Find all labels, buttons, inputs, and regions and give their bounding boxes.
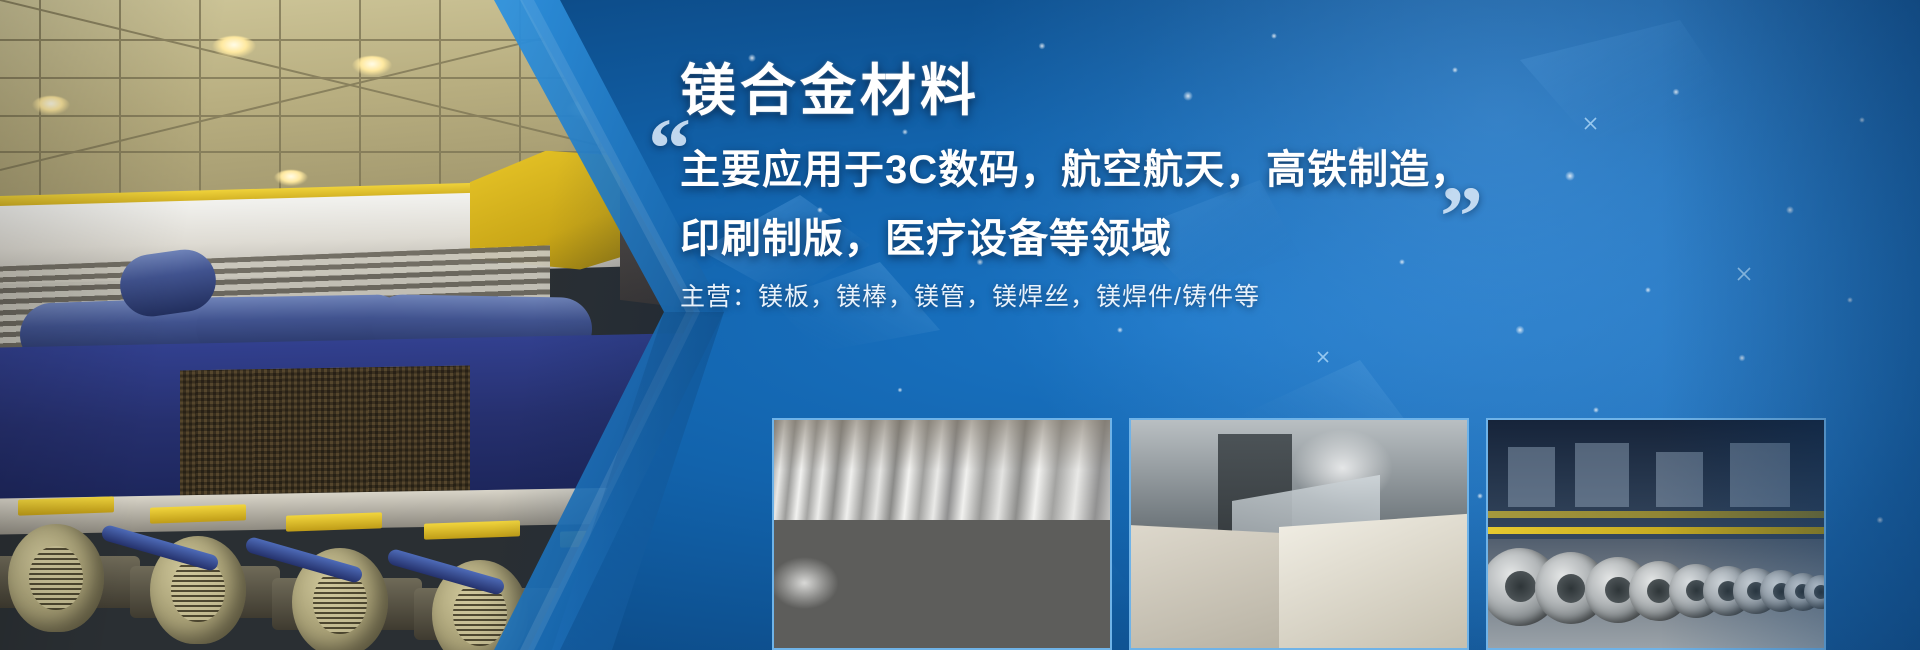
banner-content: 镁合金材料 “ ” 主要应用于3C数码，航空航天，高铁制造， 印刷制版，医疗设备… (0, 0, 1920, 650)
plate-sheet (1279, 513, 1469, 650)
yellow-crane-beam (1488, 527, 1824, 534)
plate-sheet (1129, 525, 1292, 650)
plates-image (1131, 420, 1467, 648)
magnesium-plates-photo[interactable] (1129, 418, 1469, 650)
product-subtitle: 主营：镁板，镁棒，镁管，镁焊丝，镁焊件/铸件等 (680, 277, 1260, 313)
lead-line-2: 印刷制版，医疗设备等领域 (680, 206, 1172, 264)
hall-window (1508, 447, 1555, 506)
product-thumbnail-row (772, 418, 1826, 650)
hall-window (1656, 452, 1703, 507)
yellow-crane-beam (1488, 511, 1824, 518)
coils-image (1488, 420, 1824, 648)
page-title: 镁合金材料 (680, 46, 980, 127)
hall-window (1575, 443, 1629, 507)
quote-close-mark: ” (1440, 186, 1483, 246)
lead-line-1: 主要应用于3C数码，航空航天，高铁制造， (680, 137, 1471, 195)
bars-image (774, 420, 1110, 648)
magnesium-coils-photo[interactable] (1486, 418, 1826, 650)
magnesium-alloy-banner: 镁合金材料 “ ” 主要应用于3C数码，航空航天，高铁制造， 印刷制版，医疗设备… (0, 0, 1920, 650)
magnesium-bars-photo[interactable] (772, 418, 1112, 650)
hall-window (1730, 443, 1790, 507)
